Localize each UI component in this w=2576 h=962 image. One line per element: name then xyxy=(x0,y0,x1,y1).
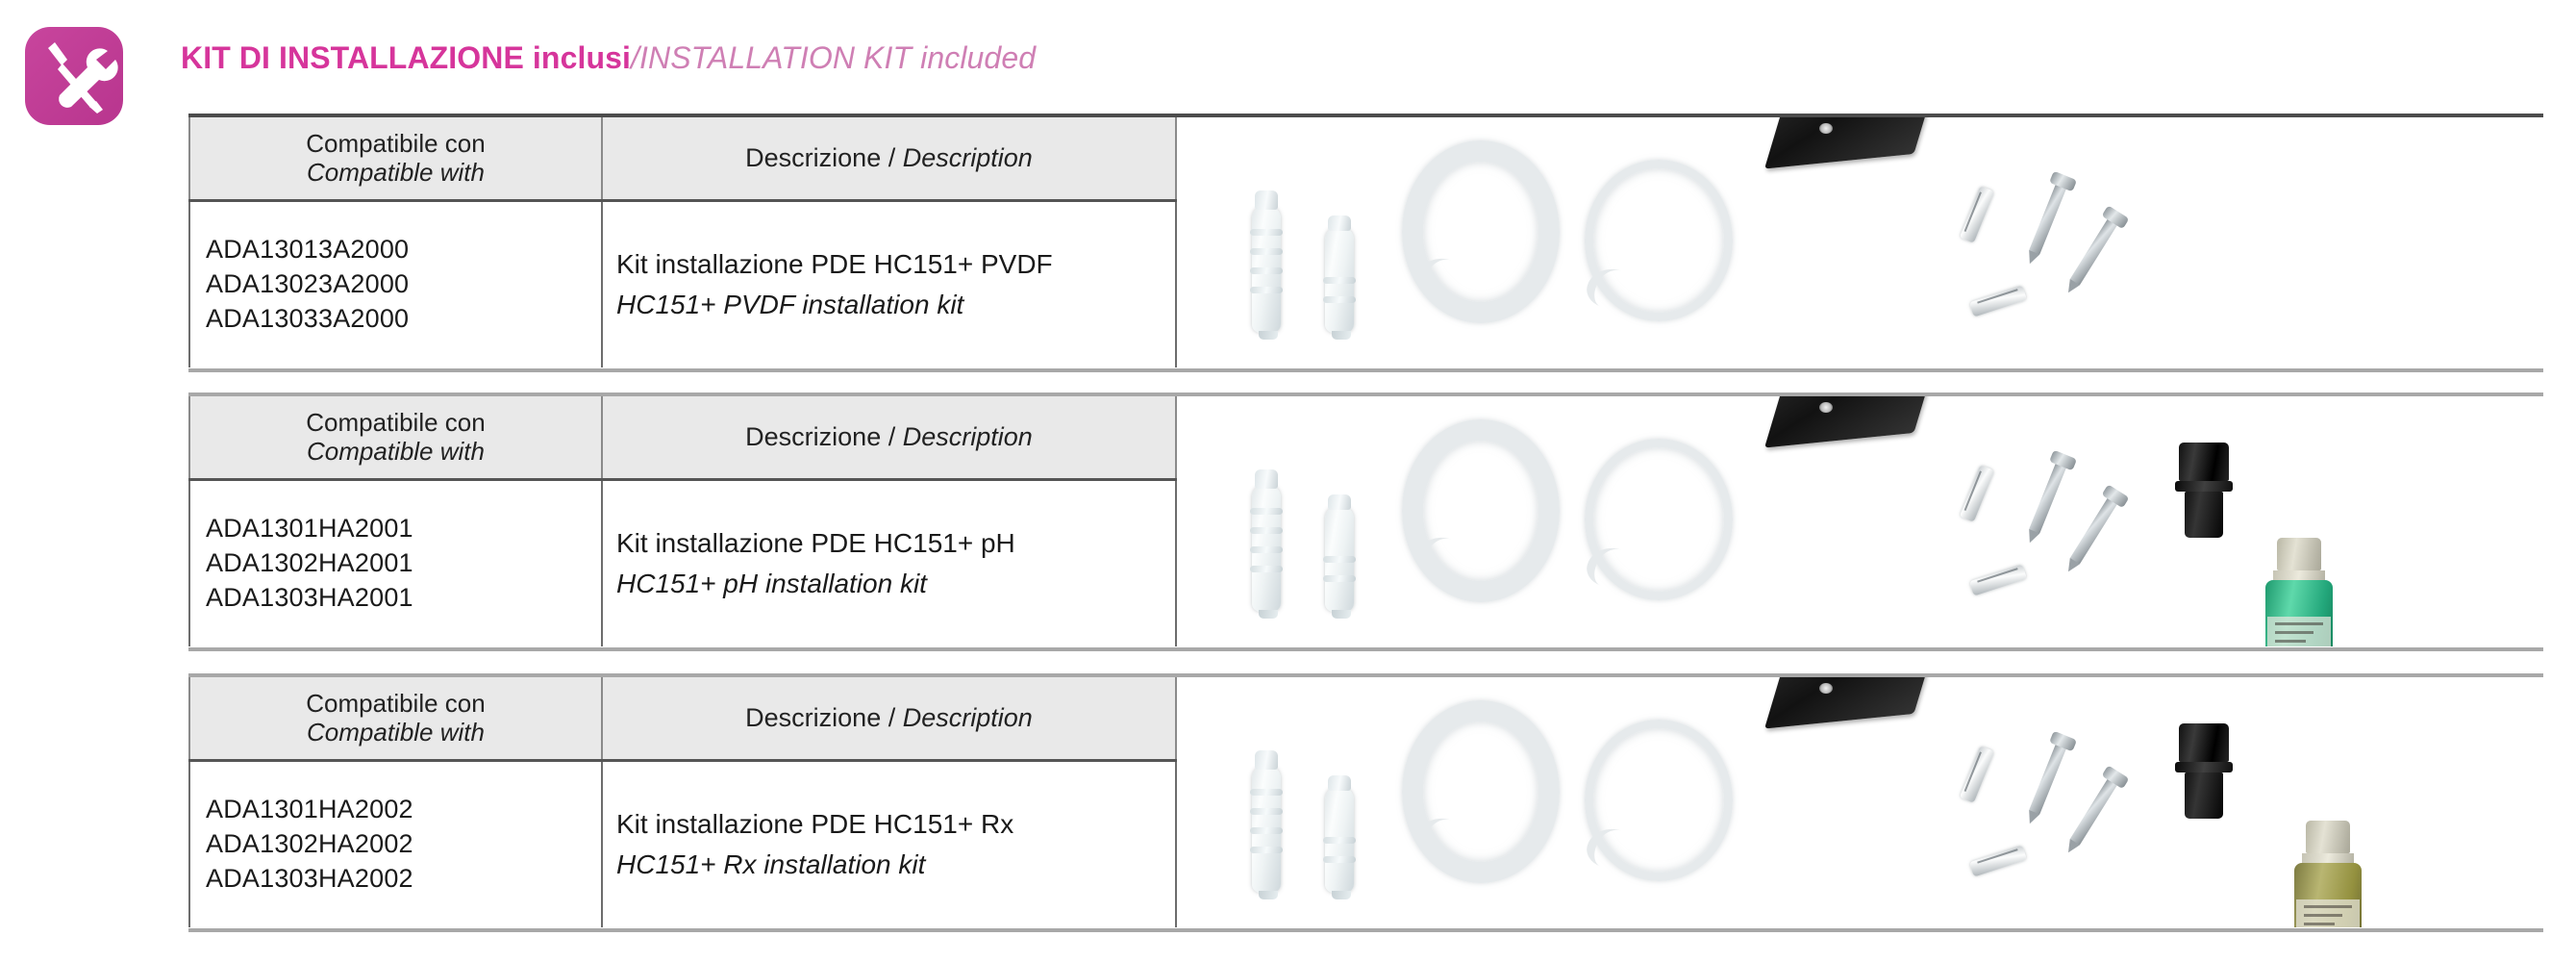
column-divider-right xyxy=(1175,202,1177,367)
table-header-row: Compatibile con Compatible with Descrizi… xyxy=(188,117,1177,202)
column-divider-right xyxy=(1175,677,1177,759)
header-compatible-en: Compatible with xyxy=(307,159,485,187)
header-compatible-en: Compatible with xyxy=(307,438,485,466)
black-probe-holder-part xyxy=(2179,443,2543,538)
description-italian: Kit installazione PDE HC151+ Rx xyxy=(616,804,1013,845)
header-description-sep: / xyxy=(888,422,896,451)
black-probe-holder-part xyxy=(2179,723,2543,819)
table-body-row: ADA1301HA2002 ADA1302HA2002 ADA1303HA200… xyxy=(188,762,1177,927)
injection-tube-valve-part xyxy=(1325,506,1354,612)
section-bottom-rule xyxy=(188,928,2543,932)
header-compatible-with: Compatibile con Compatible with xyxy=(190,117,601,199)
header-compatible-it: Compatibile con xyxy=(306,690,485,718)
column-divider-right xyxy=(1175,481,1177,646)
page-title-italian: KIT DI INSTALLAZIONE inclusi xyxy=(181,40,631,75)
table-header-row: Compatibile con Compatible with Descrizi… xyxy=(188,677,1177,762)
header-compatible-en: Compatible with xyxy=(307,719,485,747)
suction-tube-filter-part xyxy=(1252,485,1281,612)
header-compatible-with: Compatibile con Compatible with xyxy=(190,396,601,478)
description-english: HC151+ pH installation kit xyxy=(616,564,927,604)
compatible-codes-cell: ADA1301HA2001 ADA1302HA2001 ADA1303HA200… xyxy=(190,481,601,646)
black-mounting-bracket-part xyxy=(1781,677,2543,721)
page-title-english: INSTALLATION KIT included xyxy=(639,40,1036,75)
black-mounting-bracket-part xyxy=(1781,396,2543,441)
description-english: HC151+ PVDF installation kit xyxy=(616,285,963,325)
clear-hose-coil-part xyxy=(1402,700,1560,883)
wall-anchors-and-screws-part xyxy=(1967,165,2140,331)
header-description-en: Description xyxy=(903,422,1033,451)
column-divider-right xyxy=(1175,762,1177,927)
description-italian: Kit installazione PDE HC151+ PVDF xyxy=(616,244,1053,285)
product-code: ADA1303HA2001 xyxy=(206,581,413,616)
product-code: ADA13023A2000 xyxy=(206,267,409,302)
table-header-row: Compatibile con Compatible with Descrizi… xyxy=(188,396,1177,481)
kit-contents-photo-strip xyxy=(1181,677,2543,927)
compatible-codes-cell: ADA13013A2000 ADA13023A2000 ADA13033A200… xyxy=(190,202,601,367)
clear-tube-loop-part xyxy=(1585,720,1733,881)
table-body-row: ADA1301HA2001 ADA1302HA2001 ADA1303HA200… xyxy=(188,481,1177,646)
wall-anchors-and-screws-part xyxy=(1967,725,2140,891)
wall-anchors-and-screws-part xyxy=(1967,444,2140,610)
product-code: ADA1303HA2002 xyxy=(206,862,413,897)
description-cell: Kit installazione PDE HC151+ Rx HC151+ R… xyxy=(603,762,1175,927)
header-compatible-with: Compatibile con Compatible with xyxy=(190,677,601,759)
header-description-sep: / xyxy=(888,703,896,732)
header-description-it: Descrizione xyxy=(745,703,881,732)
column-divider-right xyxy=(1175,396,1177,478)
header-description-en: Description xyxy=(903,143,1033,172)
product-code: ADA1301HA2001 xyxy=(206,512,413,546)
header-compatible-it: Compatibile con xyxy=(306,130,485,158)
product-code: ADA1302HA2002 xyxy=(206,827,413,862)
ph7-buffer-bottle-green-part xyxy=(2265,538,2333,646)
clear-tube-loop-part xyxy=(1585,439,1733,600)
description-english: HC151+ Rx installation kit xyxy=(616,845,925,885)
header-description-it: Descrizione xyxy=(745,143,881,172)
black-mounting-bracket-part xyxy=(1781,117,2543,162)
product-code: ADA13033A2000 xyxy=(206,302,409,337)
injection-tube-valve-part xyxy=(1325,227,1354,333)
section-bottom-rule xyxy=(188,647,2543,651)
description-italian: Kit installazione PDE HC151+ pH xyxy=(616,523,1015,564)
header-compatible-it: Compatibile con xyxy=(306,409,485,437)
injection-tube-valve-part xyxy=(1325,787,1354,893)
compatible-codes-cell: ADA1301HA2002 ADA1302HA2002 ADA1303HA200… xyxy=(190,762,601,927)
kit-table: Compatibile con Compatible with Descrizi… xyxy=(188,677,1177,927)
column-divider-right xyxy=(1175,117,1177,199)
tools-wrench-screwdriver-icon xyxy=(25,27,123,125)
page-title-separator: / xyxy=(631,40,639,75)
header-description-sep: / xyxy=(888,143,896,172)
product-code: ADA1302HA2001 xyxy=(206,546,413,581)
clear-hose-coil-part xyxy=(1402,419,1560,602)
section-bottom-rule xyxy=(188,368,2543,372)
suction-tube-filter-part xyxy=(1252,206,1281,333)
header-description: Descrizione / Description xyxy=(603,117,1175,199)
orp-buffer-bottle-olive-part xyxy=(2294,821,2362,927)
description-cell: Kit installazione PDE HC151+ PVDF HC151+… xyxy=(603,202,1175,367)
product-code: ADA13013A2000 xyxy=(206,233,409,267)
header-description-en: Description xyxy=(903,703,1033,732)
header-description: Descrizione / Description xyxy=(603,396,1175,478)
product-code: ADA1301HA2002 xyxy=(206,793,413,827)
table-body-row: ADA13013A2000 ADA13023A2000 ADA13033A200… xyxy=(188,202,1177,367)
kit-table: Compatibile con Compatible with Descrizi… xyxy=(188,117,1177,367)
description-cell: Kit installazione PDE HC151+ pH HC151+ p… xyxy=(603,481,1175,646)
clear-hose-coil-part xyxy=(1402,140,1560,323)
suction-tube-filter-part xyxy=(1252,766,1281,893)
kit-table: Compatibile con Compatible with Descrizi… xyxy=(188,396,1177,646)
kit-contents-photo-strip xyxy=(1181,117,2543,367)
header-description-it: Descrizione xyxy=(745,422,881,451)
kit-contents-photo-strip xyxy=(1181,396,2543,646)
clear-tube-loop-part xyxy=(1585,160,1733,321)
page-title: KIT DI INSTALLAZIONE inclusi/INSTALLATIO… xyxy=(181,42,1036,73)
header-description: Descrizione / Description xyxy=(603,677,1175,759)
